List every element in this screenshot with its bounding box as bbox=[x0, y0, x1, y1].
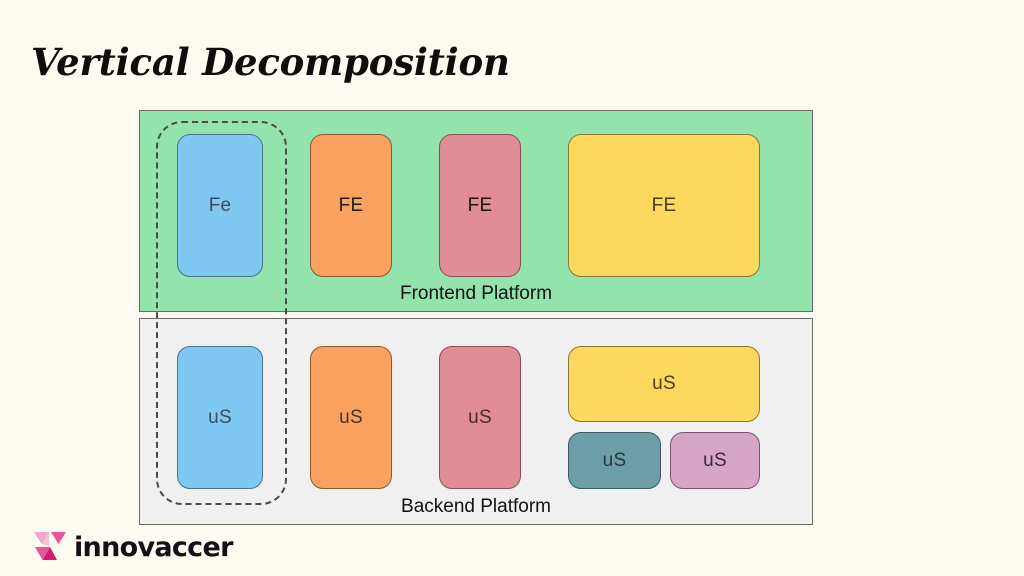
frontend-platform-label: Frontend Platform bbox=[400, 283, 552, 305]
innovaccer-butterfly-icon bbox=[33, 530, 67, 564]
backend-platform-label: Backend Platform bbox=[401, 496, 551, 518]
frontend-box-3: FE bbox=[439, 134, 521, 277]
frontend-box-1: Fe bbox=[177, 134, 263, 277]
backend-box-2: uS bbox=[310, 346, 392, 489]
frontend-box-2: FE bbox=[310, 134, 392, 277]
frontend-box-4: FE bbox=[568, 134, 760, 277]
architecture-diagram: Frontend Platform Backend Platform FeFEF… bbox=[139, 110, 813, 525]
page-title: Vertical Decomposition bbox=[31, 40, 510, 84]
backend-box-1: uS bbox=[177, 346, 263, 489]
slide-canvas: Vertical Decomposition Frontend Platform… bbox=[0, 0, 1024, 576]
backend-box-6: uS bbox=[670, 432, 760, 489]
innovaccer-logo: innovaccer bbox=[33, 528, 233, 566]
backend-box-3: uS bbox=[439, 346, 521, 489]
backend-box-4: uS bbox=[568, 346, 760, 422]
backend-box-5: uS bbox=[568, 432, 661, 489]
innovaccer-wordmark: innovaccer bbox=[74, 534, 233, 561]
